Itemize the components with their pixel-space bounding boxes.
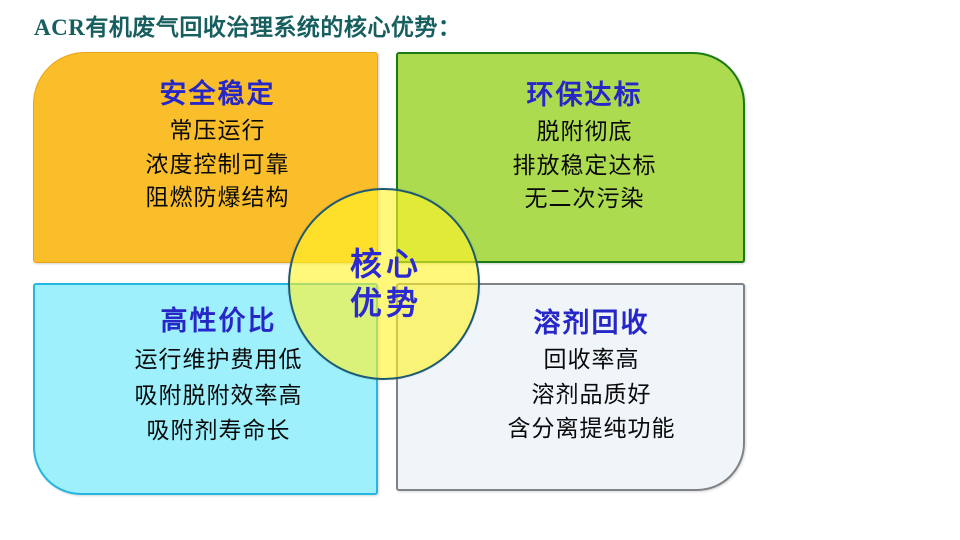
core-circle-line-1: 核心	[346, 245, 422, 284]
slide-canvas: ACR有机废气回收治理系统的核心优势： 安全稳定 常压运行 浓度控制可靠 阻燃防…	[0, 0, 960, 540]
panel-item: 阻燃防爆结构	[146, 185, 290, 210]
panel-item: 吸附脱附效率高	[135, 383, 303, 408]
panel-item: 脱附彻底	[537, 119, 633, 144]
panel-item: 浓度控制可靠	[146, 152, 290, 177]
panel-item: 溶剂品质好	[532, 382, 652, 407]
panel-title: 溶剂回收	[534, 309, 650, 337]
panel-text-stack: 高性价比 运行维护费用低 吸附脱附效率高 吸附剂寿命长	[135, 307, 303, 453]
panel-item: 吸附剂寿命长	[147, 418, 291, 443]
panel-item: 排放稳定达标	[513, 153, 657, 178]
panel-text-stack: 溶剂回收 回收率高 溶剂品质好 含分离提纯功能	[508, 309, 676, 450]
panel-title: 安全稳定	[160, 80, 276, 108]
panel-item: 无二次污染	[525, 186, 645, 211]
core-advantage-circle[interactable]: 核心 优势	[288, 188, 480, 380]
panel-text-stack: 安全稳定 常压运行 浓度控制可靠 阻燃防爆结构	[146, 80, 290, 218]
panel-title: 高性价比	[161, 307, 277, 335]
panel-item: 回收率高	[544, 347, 640, 372]
panel-title: 环保达标	[527, 81, 643, 109]
panel-item: 运行维护费用低	[135, 347, 303, 372]
page-title: ACR有机废气回收治理系统的核心优势：	[34, 8, 461, 42]
panel-item: 常压运行	[170, 118, 266, 143]
panel-text-stack: 环保达标 脱附彻底 排放稳定达标 无二次污染	[513, 81, 657, 219]
core-circle-line-2: 优势	[346, 284, 422, 323]
panel-item: 含分离提纯功能	[508, 416, 676, 441]
